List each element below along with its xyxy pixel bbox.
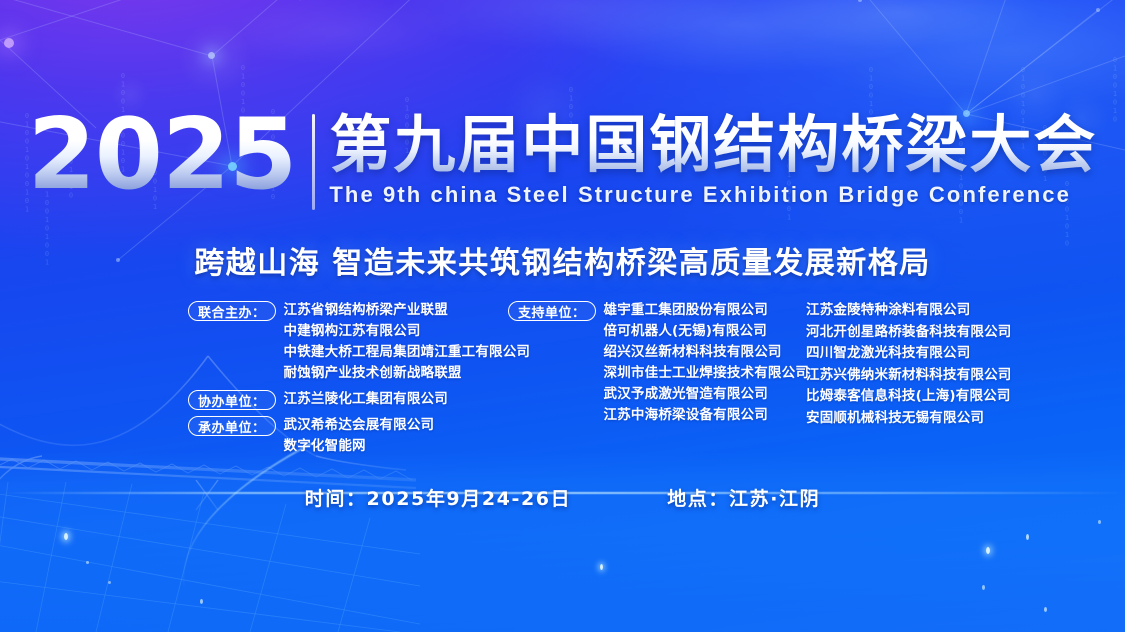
- conference-banner: 010010100101 0100101001 01001010 0100101…: [0, 0, 1125, 632]
- sponsor-group-supporters: 支持单位： 雄宇重工集团股份有限公司 倍可机器人(无锡)有限公司 绍兴汉丝新材料…: [508, 300, 808, 426]
- sponsor-name: 武汉予成激光智造有限公司: [604, 384, 810, 405]
- sponsor-group-undertakers: 承办单位： 武汉希希达会展有限公司 数字化智能网: [188, 415, 518, 457]
- banner-title-row: 2025 第九届中国钢结构桥梁大会 The 9th china Steel St…: [0, 112, 1125, 210]
- sponsor-name: 比姆泰客信息科技(上海)有限公司: [806, 386, 1106, 408]
- sponsor-name: 数字化智能网: [284, 436, 435, 457]
- sponsor-name: 绍兴汉丝新材料科技有限公司: [604, 342, 810, 363]
- sponsor-group-co-hosts: 联合主办： 江苏省钢结构桥梁产业联盟 中建钢构江苏有限公司 中铁建大桥工程局集团…: [188, 300, 518, 384]
- event-location: 地点：江苏·江阴: [667, 484, 820, 511]
- year-2025: 2025: [28, 110, 313, 200]
- sponsors-section: 联合主办： 江苏省钢结构桥梁产业联盟 中建钢构江苏有限公司 中铁建大桥工程局集团…: [0, 300, 1125, 460]
- sponsor-name: 江苏中海桥梁设备有限公司: [604, 405, 810, 426]
- sponsor-name: 雄宇重工集团股份有限公司: [604, 300, 810, 321]
- page-title: 第九届中国钢结构桥梁大会: [329, 112, 1097, 178]
- title-divider: [312, 114, 315, 210]
- sponsor-name: 江苏省钢结构桥梁产业联盟: [284, 300, 531, 321]
- sponsor-column-right: 江苏金陵特种涂料有限公司 河北开创星路桥装备科技有限公司 四川智龙激光科技有限公…: [806, 300, 1106, 430]
- sponsor-name: 安固顺机械科技无锡有限公司: [806, 408, 1106, 430]
- sponsor-group-co-organizers: 协办单位： 江苏兰陵化工集团有限公司: [188, 389, 518, 410]
- sponsor-name: 武汉希希达会展有限公司: [284, 415, 435, 436]
- sponsor-name: 河北开创星路桥装备科技有限公司: [806, 322, 1106, 344]
- sponsor-column-left: 联合主办： 江苏省钢结构桥梁产业联盟 中建钢构江苏有限公司 中铁建大桥工程局集团…: [188, 300, 518, 462]
- event-date: 时间：2025年9月24-26日: [305, 484, 571, 511]
- sponsor-name: 倍可机器人(无锡)有限公司: [604, 321, 810, 342]
- sponsor-name: 中铁建大桥工程局集团靖江重工有限公司: [284, 342, 531, 363]
- sponsor-name: 深圳市佳士工业焊接技术有限公司: [604, 363, 810, 384]
- sponsor-name: 江苏兴佛纳米新材料科技有限公司: [806, 365, 1106, 387]
- sponsor-label-co-hosts: 联合主办：: [188, 301, 276, 321]
- sponsor-label-co-organizers: 协办单位：: [188, 390, 276, 410]
- sponsor-label-undertakers: 承办单位：: [188, 416, 276, 436]
- sponsor-name: 江苏兰陵化工集团有限公司: [284, 389, 448, 410]
- sponsor-name: 中建钢构江苏有限公司: [284, 321, 531, 342]
- event-info-footer: 时间：2025年9月24-26日 地点：江苏·江阴: [0, 484, 1125, 511]
- sponsor-name: 四川智龙激光科技有限公司: [806, 343, 1106, 365]
- sponsor-label-supporters: 支持单位：: [508, 301, 596, 321]
- sponsor-column-middle: 支持单位： 雄宇重工集团股份有限公司 倍可机器人(无锡)有限公司 绍兴汉丝新材料…: [508, 300, 808, 431]
- page-subtitle-english: The 9th china Steel Structure Exhibition…: [329, 182, 1097, 208]
- sponsor-name: 江苏金陵特种涂料有限公司: [806, 300, 1106, 322]
- conference-slogan: 跨越山海 智造未来共筑钢结构桥梁高质量发展新格局: [0, 238, 1125, 282]
- sponsor-name: 耐蚀钢产业技术创新战略联盟: [284, 363, 531, 384]
